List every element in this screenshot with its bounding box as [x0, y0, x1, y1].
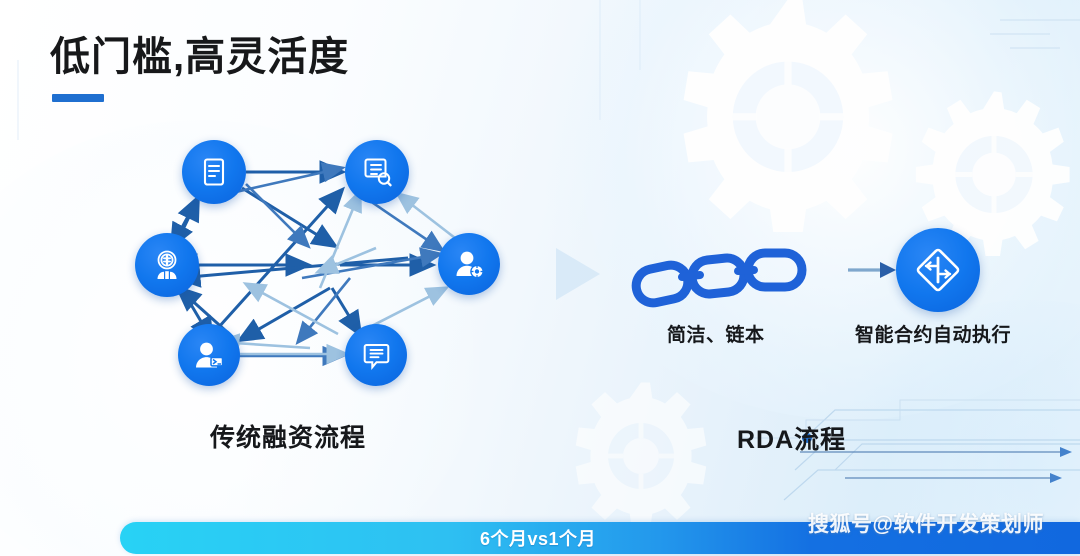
right-arrow-icon [848, 258, 896, 287]
smart-contract-label: 智能合约自动执行 [855, 320, 1011, 347]
node-document[interactable] [182, 140, 246, 204]
chain-label: 简洁、链本 [667, 320, 765, 347]
bank-people-icon [149, 247, 185, 283]
page-title: 低门槛,高灵活度 [50, 24, 349, 82]
node-bank[interactable] [135, 233, 199, 297]
smart-contract-node[interactable] [896, 228, 980, 312]
traditional-process-diagram [60, 128, 550, 428]
right-panel-caption: RDA流程 [737, 420, 846, 456]
certificate-seal-icon [360, 155, 394, 189]
node-user-config[interactable] [438, 233, 500, 295]
panel-divider-chevron [556, 248, 600, 300]
left-panel-caption: 传统融资流程 [210, 418, 366, 454]
title-underline [52, 94, 104, 102]
user-money-icon [192, 338, 226, 372]
gear-large-icon [668, 0, 908, 232]
user-gear-icon [452, 247, 486, 281]
document-chat-icon [360, 339, 393, 372]
comparison-bar-text: 6个月vs1个月 [480, 525, 596, 551]
node-contract[interactable] [345, 324, 407, 386]
slide-canvas: 低门槛,高灵活度 [0, 0, 1080, 556]
document-icon [197, 155, 231, 189]
node-certificate[interactable] [345, 140, 409, 204]
chain-link-icon [630, 243, 810, 316]
node-payer[interactable] [178, 324, 240, 386]
diamond-transfer-icon [912, 244, 964, 296]
gear-small-icon [566, 378, 716, 528]
watermark: 搜狐号@软件开发策划师 [808, 508, 1044, 538]
